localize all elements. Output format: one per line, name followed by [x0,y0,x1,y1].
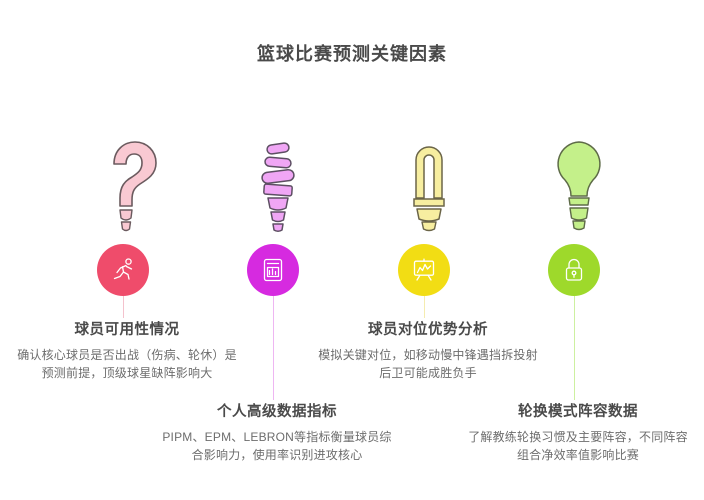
block-description-2: PIPM、EPM、LEBRON等指标衡量球员综合影响力，使用率识别进攻核心 [162,428,392,464]
text-block-3: 球员对位优势分析 模拟关键对位，如移动慢中锋遇挡拆投射后卫可能成胜负手 [313,318,543,382]
block-title-2: 个人高级数据指标 [162,400,392,421]
connector-line-2 [273,296,275,400]
bulb-graphic-4 [498,138,658,240]
classic-bulb-icon [543,138,613,240]
block-description-4: 了解教练轮换习惯及主要阵容，不同阵容组合净效率值影响比赛 [463,428,693,464]
text-block-1: 球员可用性情况 确认核心球员是否出战（伤病、轮休）是预测前提，顶级球星缺阵影响大 [12,318,242,382]
block-title-4: 轮换模式阵容数据 [463,400,693,421]
connector-line-3 [424,296,426,318]
spiral-cfl-bulb-icon [242,138,312,240]
bulb-graphic-2 [197,138,357,240]
question-mark-bulb-icon [92,138,162,240]
node-circle-3[interactable] [398,244,450,296]
block-description-1: 确认核心球员是否出战（伤病、轮休）是预测前提，顶级球星缺阵影响大 [12,346,242,382]
block-title-3: 球员对位优势分析 [313,318,543,339]
presentation-chart-icon [411,257,437,283]
connector-line-1 [123,296,125,318]
node-circle-1[interactable] [97,244,149,296]
connector-line-4 [574,296,576,400]
u-tube-bulb-icon [393,138,463,240]
page-title: 篮球比赛预测关键因素 [0,40,704,66]
basketball-player-icon [110,257,136,283]
chart-document-icon [260,257,286,283]
bulb-graphic-1 [47,138,207,240]
bulb-graphic-3 [348,138,508,240]
node-circle-4[interactable] [548,244,600,296]
text-block-2: 个人高级数据指标 PIPM、EPM、LEBRON等指标衡量球员综合影响力，使用率… [162,400,392,464]
block-description-3: 模拟关键对位，如移动慢中锋遇挡拆投射后卫可能成胜负手 [313,346,543,382]
node-circle-2[interactable] [247,244,299,296]
lock-icon [561,257,587,283]
text-block-4: 轮换模式阵容数据 了解教练轮换习惯及主要阵容，不同阵容组合净效率值影响比赛 [463,400,693,464]
block-title-1: 球员可用性情况 [12,318,242,339]
